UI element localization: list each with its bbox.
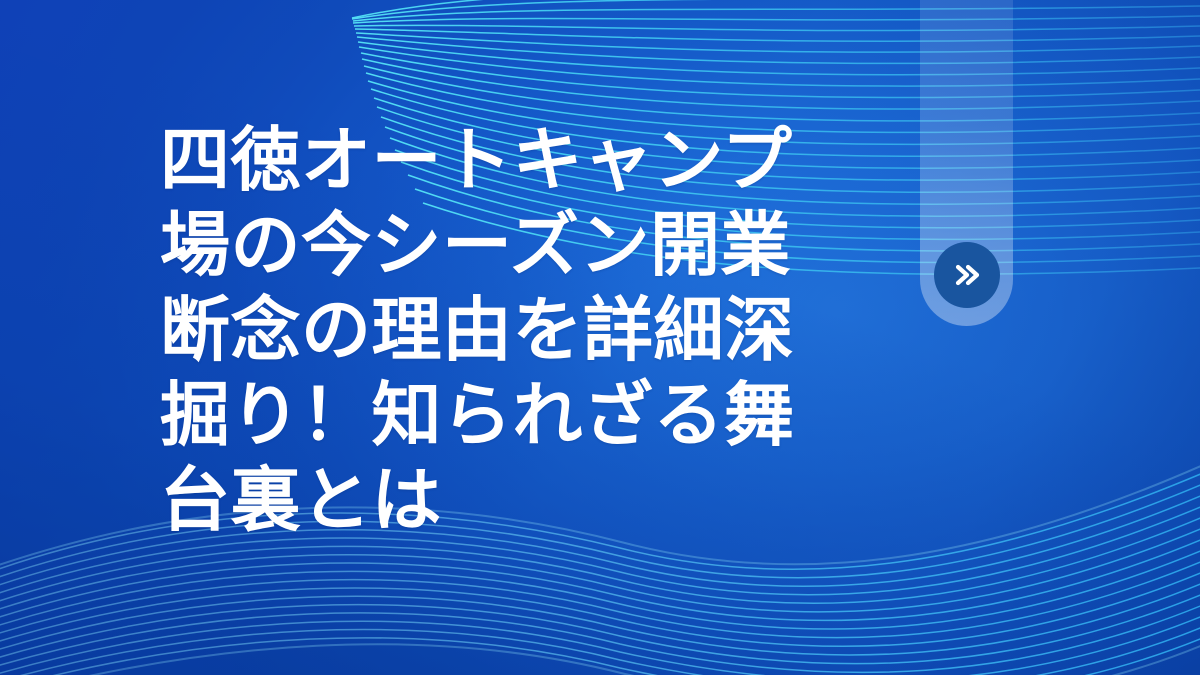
- thumbnail-card: 四徳オートキャンプ場の今シーズン開業断念の理由を詳細深掘り！知られざる舞台裏とは: [0, 0, 1200, 675]
- page-title: 四徳オートキャンプ場の今シーズン開業断念の理由を詳細深掘り！知られざる舞台裏とは: [160, 118, 808, 543]
- double-chevron-right-icon[interactable]: [934, 242, 1000, 308]
